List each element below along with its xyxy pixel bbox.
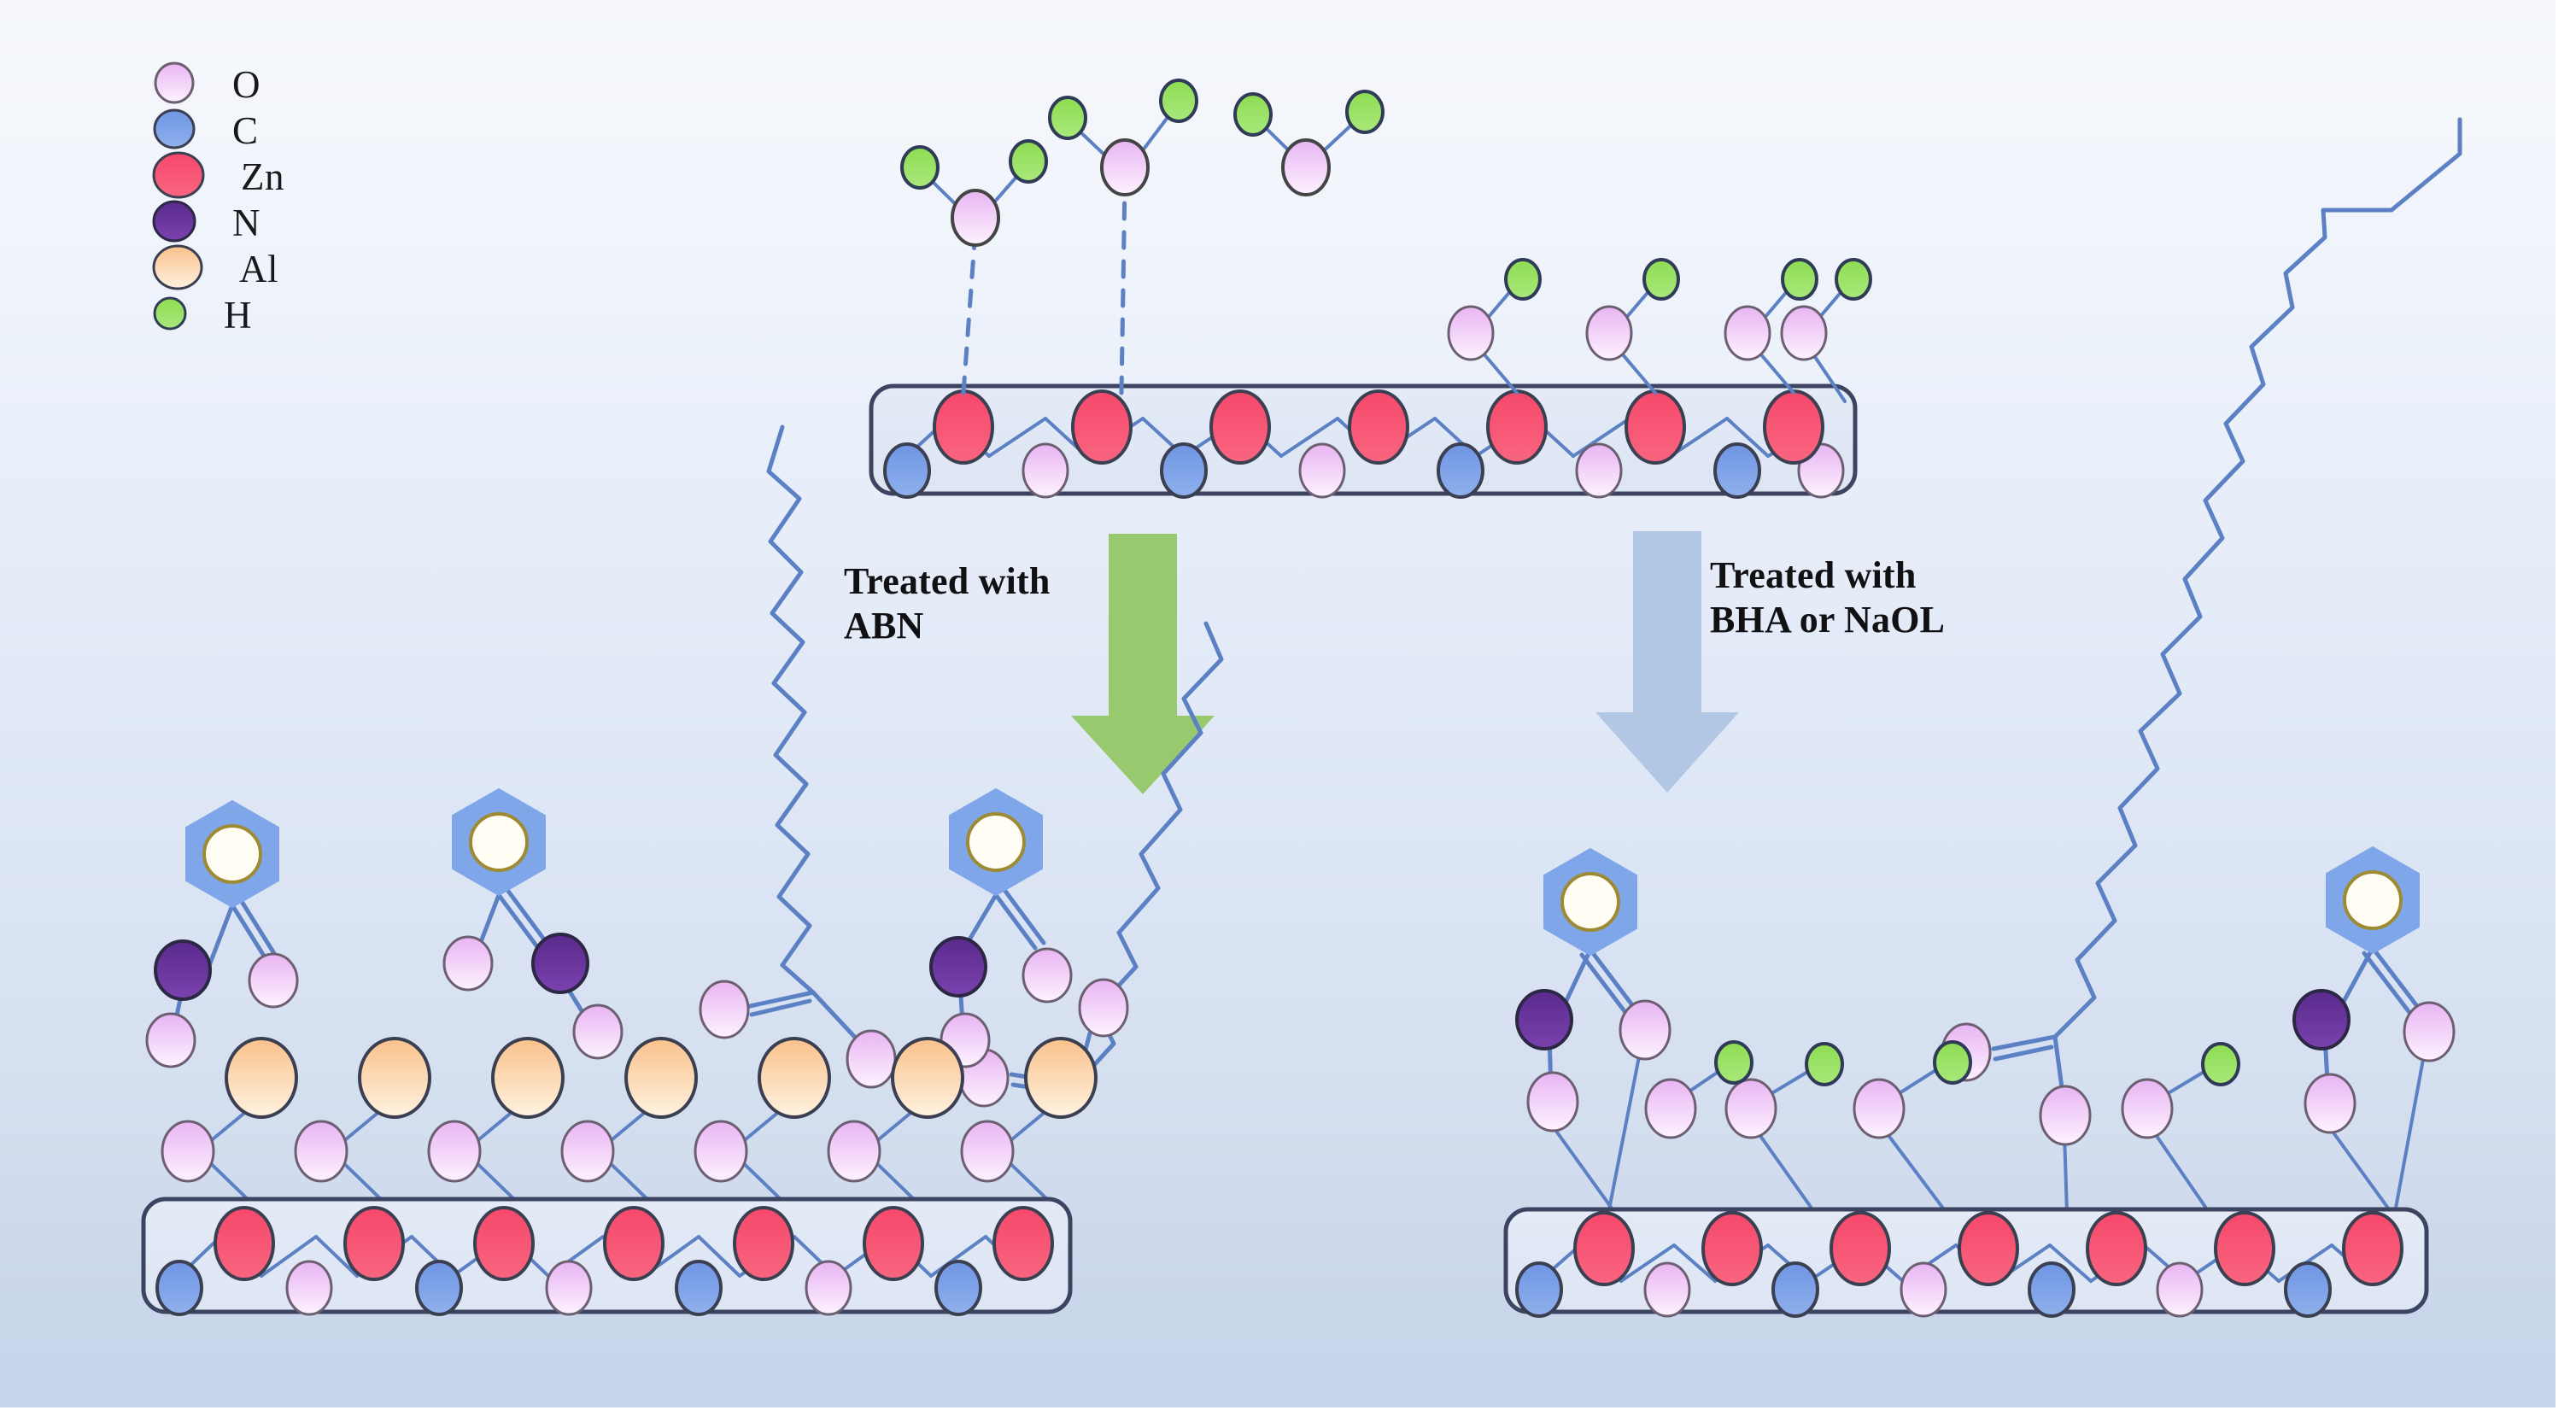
bha-molecule (1517, 849, 1670, 1209)
atom-h (1506, 260, 1540, 299)
atom-o (962, 1121, 1013, 1181)
atom-zn (345, 1208, 403, 1279)
atom-zn (735, 1208, 793, 1279)
atom-al (360, 1039, 430, 1117)
atom-zn (1073, 391, 1131, 463)
atom-o (1528, 1073, 1578, 1131)
atom-n (1517, 991, 1572, 1049)
treatment-arrows (1071, 531, 1739, 794)
alkyl-chain (769, 427, 813, 992)
atom-zn (994, 1208, 1052, 1279)
legend-label-n: N (232, 204, 261, 243)
atom-h (1050, 97, 1086, 138)
atom-h (1161, 80, 1197, 121)
atom-o (1726, 1080, 1776, 1138)
legend-item-zn: Zn (152, 154, 408, 200)
atom-circle-n-icon (152, 199, 196, 248)
atom-o (1725, 307, 1770, 360)
atom-o (1782, 307, 1826, 360)
atom-zn (1959, 1213, 2017, 1284)
atom-o (1645, 1263, 1689, 1316)
atom-al (626, 1039, 696, 1117)
atom-zn (1765, 391, 1823, 463)
atom-h (2203, 1044, 2239, 1085)
atom-c (1517, 1263, 1561, 1316)
atom-c (1438, 444, 1483, 497)
atom-o (1023, 949, 1071, 1002)
arrow-abn (1071, 534, 1215, 794)
atom-c (885, 444, 929, 497)
surface-hydroxyl-group (1646, 1042, 2239, 1209)
abn-molecule (147, 801, 297, 1067)
atom-o (1023, 444, 1068, 497)
atom-o (562, 1121, 613, 1181)
atom-al (493, 1039, 563, 1117)
atom-zn (1349, 391, 1408, 463)
legend-item-o: O (152, 61, 408, 108)
atom-h (1716, 1042, 1752, 1083)
atom-o (547, 1261, 591, 1314)
atom-o (1102, 140, 1148, 195)
atom-o (2157, 1263, 2202, 1316)
atom-o (574, 1005, 622, 1058)
atom-c (676, 1261, 721, 1314)
atom-o (1587, 307, 1631, 360)
adsorbed-water-group (902, 80, 1383, 393)
atom-h (1783, 260, 1817, 299)
atom-c (2286, 1263, 2330, 1316)
legend-label-c: C (232, 112, 259, 150)
atom-o (2404, 1003, 2454, 1061)
atom-circle-o-icon (152, 61, 196, 109)
atom-o (1620, 1001, 1670, 1059)
atom-c (1773, 1263, 1818, 1316)
atom-o (695, 1121, 746, 1181)
atom-o (1646, 1080, 1695, 1138)
atom-o (162, 1121, 214, 1181)
atom-h (1806, 1044, 1842, 1085)
atom-n (2294, 991, 2349, 1049)
atom-o (847, 1031, 895, 1087)
atom-h (1235, 94, 1271, 135)
atom-circle-h-icon (152, 296, 188, 336)
atom-zn (475, 1208, 533, 1279)
atom-zn (1211, 391, 1269, 463)
atom-o (1300, 444, 1344, 497)
atom-zn (2216, 1213, 2274, 1284)
legend-label-o: O (232, 66, 261, 104)
atom-zn (1488, 391, 1546, 463)
atom-o (700, 981, 748, 1038)
atom-zn (864, 1208, 922, 1279)
atom-c (936, 1261, 981, 1314)
atom-n (931, 938, 986, 996)
legend-label-al: Al (239, 250, 278, 289)
atom-o (1901, 1263, 1946, 1316)
atom-o (444, 937, 492, 990)
atom-zn (934, 391, 992, 463)
atom-o (1080, 980, 1127, 1036)
legend-item-n: N (152, 200, 408, 246)
atom-o (249, 954, 297, 1007)
hydrogen-bond (963, 231, 975, 393)
atom-zn (1831, 1213, 1889, 1284)
atom-o (287, 1261, 331, 1314)
atom-n (155, 941, 210, 999)
legend: O C Zn N (152, 61, 408, 338)
atom-zn (605, 1208, 663, 1279)
atom-h (1644, 260, 1678, 299)
legend-item-c: C (152, 108, 408, 154)
atom-h (1935, 1042, 1970, 1083)
atom-c (2029, 1263, 2074, 1316)
legend-item-h: H (152, 292, 408, 338)
atom-circle-al-icon (152, 244, 203, 295)
legend-label-h: H (224, 296, 252, 335)
atom-h (902, 147, 938, 188)
atom-zn (1703, 1213, 1761, 1284)
atom-zn (1575, 1213, 1633, 1284)
atom-n (533, 934, 588, 992)
atom-o (2305, 1074, 2355, 1132)
atom-zn (1626, 391, 1684, 463)
atom-h (1347, 91, 1383, 132)
atom-circle-c-icon (152, 107, 196, 155)
atom-o (828, 1121, 880, 1181)
atom-o (1854, 1080, 1904, 1138)
atom-o (147, 1014, 195, 1067)
atom-al (893, 1039, 963, 1117)
atom-c (157, 1261, 202, 1314)
abn-molecule (444, 789, 622, 1058)
bha-molecule (2294, 847, 2454, 1213)
atom-o (429, 1121, 480, 1181)
legend-label-zn: Zn (241, 158, 284, 196)
figure-canvas: O C Zn N (0, 0, 2576, 1422)
abn-molecule (931, 789, 1071, 1067)
bottom-left-panel-group (143, 427, 1221, 1314)
hydrogen-bond (1121, 181, 1125, 393)
atom-o (2122, 1080, 2172, 1138)
atom-o (1283, 140, 1329, 195)
atom-o (952, 190, 998, 245)
atom-zn (215, 1208, 273, 1279)
atom-al (759, 1039, 829, 1117)
atom-al (226, 1039, 296, 1117)
atom-zn (2087, 1213, 2146, 1284)
atom-h (1836, 260, 1871, 299)
top-panel-group (871, 80, 1871, 497)
arrow-label-bha: Treated with BHA or NaOL (1710, 553, 1945, 642)
atom-h (1010, 141, 1046, 182)
atom-zn (2344, 1213, 2402, 1284)
diagram-background: O C Zn N (0, 0, 2556, 1407)
atom-c (1715, 444, 1759, 497)
atom-o (806, 1261, 851, 1314)
atom-c (1162, 444, 1206, 497)
arrow-label-abn: Treated with ABN (844, 559, 1051, 648)
surface-hydroxyl-group (1449, 260, 1871, 401)
atom-o (1449, 307, 1493, 360)
atom-al (1026, 1039, 1096, 1117)
atom-circle-zn-icon (152, 151, 205, 203)
atom-c (417, 1261, 461, 1314)
legend-item-al: Al (152, 246, 408, 292)
atom-o (296, 1121, 347, 1181)
atom-o (2040, 1086, 2090, 1144)
atom-o (1577, 444, 1621, 497)
